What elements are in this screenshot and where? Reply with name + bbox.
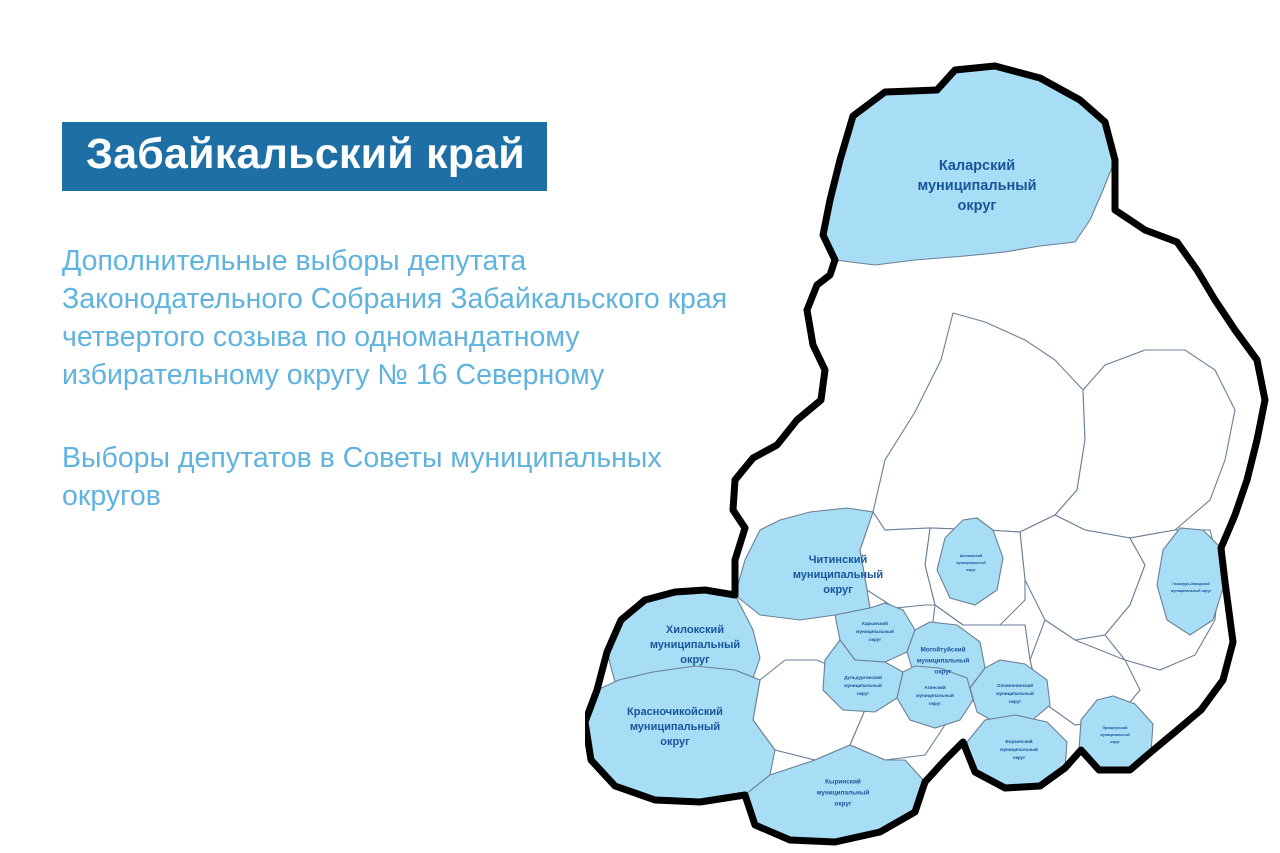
- label-khilosky-line3: округ: [680, 654, 710, 666]
- page-title: Забайкальский край: [86, 132, 525, 177]
- label-duldurginsky-line1: Дульдургинский: [844, 674, 882, 680]
- label-gazimuro-zavodsky-line2: муниципальный округ: [1171, 589, 1212, 593]
- label-aginsky-line3: округ: [929, 701, 941, 706]
- label-khilosky-line1: Хилокский: [666, 624, 724, 636]
- label-priargunsky-line1: Приаргунский: [1102, 726, 1127, 730]
- label-kyrinsky-line3: округ: [834, 801, 851, 808]
- label-chitinsky-line2: муниципальный: [793, 569, 883, 581]
- label-krasnochikoysky-line2: муниципальный: [630, 721, 720, 733]
- label-duldurginsky-line2: муниципальный: [844, 682, 882, 688]
- label-kyrinsky-line2: муниципальный: [817, 789, 870, 797]
- label-karymsky-line1: Карымский: [862, 620, 888, 626]
- label-krasnochikoysky-line1: Красночикойский: [627, 706, 723, 718]
- map-svg: Каларский муниципальный округ Читинский …: [585, 60, 1280, 850]
- label-kalarsky-line2: муниципальный: [917, 178, 1036, 194]
- label-borzinsky-line3: округ: [1013, 755, 1025, 760]
- region-map: Каларский муниципальный округ Читинский …: [585, 60, 1280, 850]
- label-aginsky-line1: Агинский: [924, 684, 946, 690]
- label-chitinsky-line3: округ: [823, 584, 853, 596]
- region-title-banner: Забайкальский край: [62, 122, 547, 191]
- label-kalarsky-line3: округ: [958, 198, 997, 214]
- label-kyrinsky-line1: Кыринский: [825, 778, 861, 786]
- label-karymsky-line3: округ: [869, 637, 881, 642]
- label-shilkinsky-line1: Шилкинский: [960, 554, 983, 558]
- label-gazimuro-zavodsky-line1: Газимуро-Заводский: [1172, 582, 1209, 586]
- label-chitinsky-line1: Читинский: [809, 554, 867, 566]
- label-shilkinsky-line3: округ: [966, 568, 976, 572]
- district-shape-plain-north-central: [873, 313, 1085, 532]
- label-borzinsky-line2: муниципальный: [1000, 746, 1038, 752]
- label-krasnochikoysky-line3: округ: [660, 736, 690, 748]
- label-mogoytuysky-line1: Могойтуйский: [920, 646, 965, 654]
- label-priargunsky-line2: муниципальный: [1100, 733, 1130, 737]
- label-duldurginsky-line3: округ: [857, 691, 869, 696]
- label-kalarsky-line1: Каларский: [939, 158, 1015, 174]
- label-khilosky-line2: муниципальный: [650, 639, 740, 651]
- label-borzinsky-line1: Борзинский: [1005, 738, 1032, 744]
- label-olovyanninsky-line1: Оловяннинский: [997, 682, 1033, 688]
- infographic-page: Забайкальский край Дополнительные выборы…: [0, 0, 1280, 853]
- label-shilkinsky-line2: муниципальный: [956, 561, 986, 565]
- label-olovyanninsky-line3: округ: [1009, 699, 1021, 704]
- label-priargunsky-line3: округ: [1110, 740, 1120, 744]
- label-aginsky-line2: муниципальный: [916, 692, 954, 698]
- label-mogoytuysky-line2: муниципальный: [917, 657, 970, 665]
- text-column: Забайкальский край Дополнительные выборы…: [0, 0, 640, 853]
- label-mogoytuysky-line3: округ: [934, 669, 951, 676]
- label-karymsky-line2: муниципальный: [856, 628, 894, 634]
- label-olovyanninsky-line2: муниципальный: [996, 690, 1034, 696]
